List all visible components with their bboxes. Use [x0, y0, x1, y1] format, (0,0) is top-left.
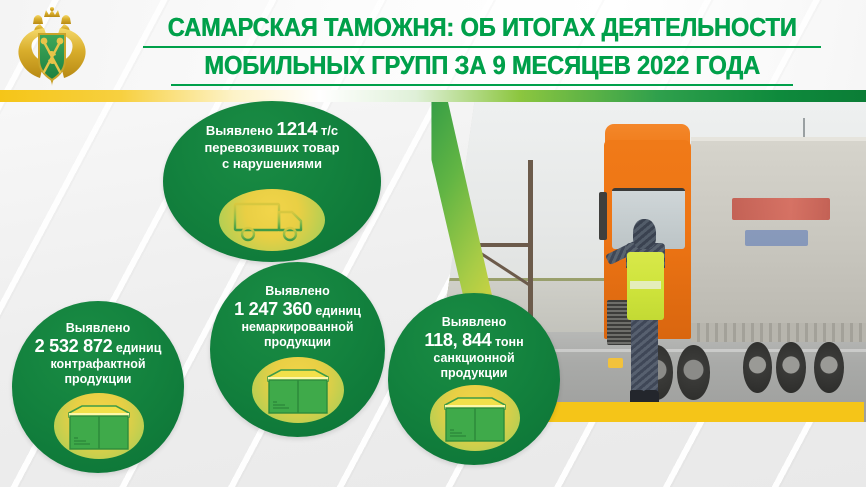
stat-icon-wrap-unmarked	[252, 357, 344, 423]
header-gradient-divider	[0, 90, 866, 102]
stat-label-prefix: Выявлено	[396, 315, 552, 330]
cardboard-box-icon	[66, 401, 132, 451]
infographic-poster: САМАРСКАЯ ТАМОЖНЯ: ОБ ИТОГАХ ДЕЯТЕЛЬНОСТ…	[0, 0, 866, 487]
stat-value: 118, 844	[424, 330, 491, 350]
stat-icon-wrap-counterfeit	[54, 393, 144, 459]
header-bar: САМАРСКАЯ ТАМОЖНЯ: ОБ ИТОГАХ ДЕЯТЕЛЬНОСТ…	[0, 0, 866, 92]
stat-bubble-sanctioned-text: Выявлено 118, 844 тонн санкционной проду…	[388, 315, 560, 381]
stat-icon-wrap-sanctioned	[430, 385, 520, 451]
stat-label-prefix: Выявлено	[206, 123, 273, 138]
stat-line-2: санкционной	[396, 351, 552, 366]
stat-bubble-counterfeit-text: Выявлено 2 532 872 единиц контрафактной …	[12, 321, 184, 387]
stat-line-2: контрафактной	[20, 357, 176, 372]
stat-bubble-unmarked-text: Выявлено 1 247 360 единиц немаркированно…	[210, 284, 385, 350]
stat-bubble-counterfeit: Выявлено 2 532 872 единиц контрафактной …	[12, 301, 184, 473]
stat-value: 1214	[277, 118, 318, 139]
stat-bubble-sanctioned: Выявлено 118, 844 тонн санкционной проду…	[388, 293, 560, 465]
stat-line-2: немаркированной	[218, 320, 377, 335]
stat-bubble-trucks-text: Выявлено 1214 т/с перевозивших товар с н…	[163, 118, 381, 171]
stat-unit: т/с	[321, 123, 338, 138]
stat-line-2: перевозивших товар	[171, 140, 373, 155]
stat-value: 2 532 872	[35, 336, 113, 356]
title-underline-1	[143, 46, 821, 48]
stat-line-3: продукции	[396, 366, 552, 381]
stat-unit: единиц	[315, 304, 361, 318]
stat-unit: тонн	[495, 335, 524, 349]
title-line-2: МОБИЛЬНЫХ ГРУПП ЗА 9 МЕСЯЦЕВ 2022 ГОДА	[136, 51, 828, 82]
truck-icon	[232, 197, 312, 243]
stat-label-prefix: Выявлено	[20, 321, 176, 336]
title-underline-2	[171, 84, 793, 86]
title-line-1: САМАРСКАЯ ТАМОЖНЯ: ОБ ИТОГАХ ДЕЯТЕЛЬНОСТ…	[136, 13, 828, 44]
stat-line-3: продукции	[20, 372, 176, 387]
cardboard-box-icon	[265, 365, 331, 415]
cardboard-box-icon	[442, 393, 508, 443]
stat-value: 1 247 360	[234, 299, 312, 319]
stat-line-3: продукции	[218, 335, 377, 350]
russian-customs-emblem-icon	[14, 6, 90, 88]
stat-bubble-trucks: Выявлено 1214 т/с перевозивших товар с н…	[163, 101, 381, 262]
stat-bubble-unmarked: Выявлено 1 247 360 единиц немаркированно…	[210, 262, 385, 437]
page-title: САМАРСКАЯ ТАМОЖНЯ: ОБ ИТОГАХ ДЕЯТЕЛЬНОСТ…	[110, 13, 854, 89]
stat-icon-wrap-trucks	[219, 189, 325, 251]
stat-line-3: с нарушениями	[171, 156, 373, 171]
stat-unit: единиц	[116, 341, 162, 355]
stat-label-prefix: Выявлено	[218, 284, 377, 299]
